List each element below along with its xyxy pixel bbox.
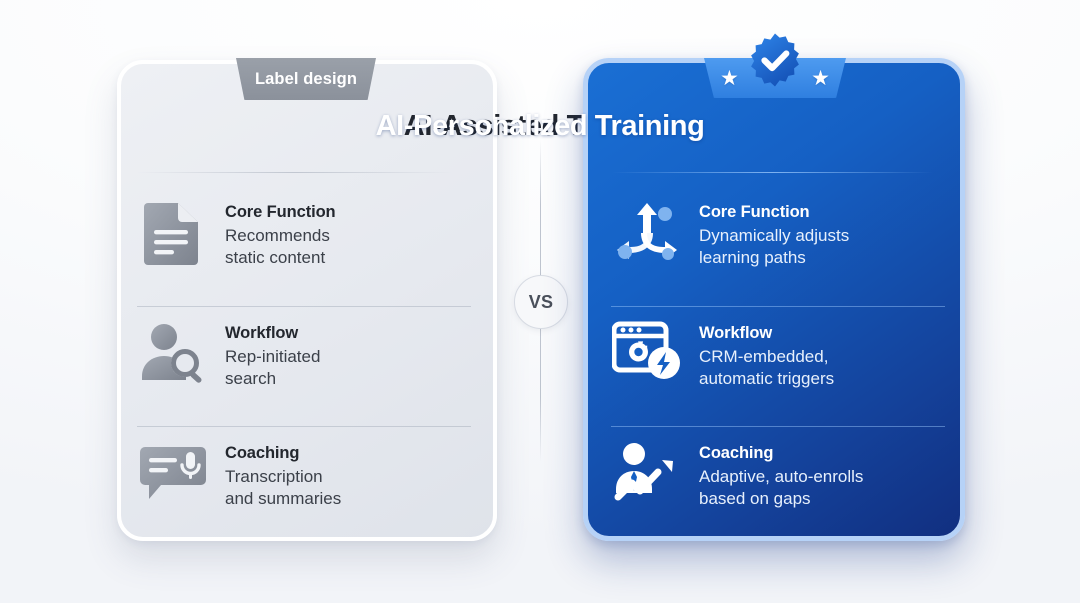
- list-item-text: Core Function Recommendsstatic content: [225, 194, 336, 269]
- list-item-desc: CRM-embedded,automatic triggers: [699, 346, 834, 390]
- list-item-desc: Recommendsstatic content: [225, 225, 336, 269]
- list-item-text: Coaching Transcriptionand summaries: [225, 435, 341, 510]
- list-item-label: Workflow: [225, 324, 320, 343]
- list-item-text: Workflow CRM-embedded,automatic triggers: [699, 315, 834, 390]
- label-design-tab-text: Label design: [255, 70, 357, 89]
- star-right-icon: ★: [811, 68, 830, 89]
- list-item: Core Function Recommendsstatic content: [137, 186, 471, 306]
- branching-arrows-icon: [611, 194, 683, 270]
- list-item-label: Core Function: [225, 203, 336, 222]
- list-item-label: Core Function: [699, 203, 849, 222]
- list-item-desc: Transcriptionand summaries: [225, 466, 341, 510]
- speech-bubble-microphone-icon: [137, 435, 209, 511]
- list-item-desc: Dynamically adjustslearning paths: [699, 225, 849, 269]
- label-design-tab: Label design: [236, 58, 376, 100]
- right-feature-list: Core Function Dynamically adjustslearnin…: [611, 186, 945, 546]
- list-item-text: Core Function Dynamically adjustslearnin…: [699, 194, 849, 269]
- list-item-text: Workflow Rep-initiatedsearch: [225, 315, 320, 390]
- list-item-label: Coaching: [225, 444, 341, 463]
- left-feature-list: Core Function Recommendsstatic content W…: [137, 186, 471, 546]
- list-item: Workflow Rep-initiatedsearch: [137, 306, 471, 426]
- list-item-desc: Adaptive, auto-enrollsbased on gaps: [699, 466, 863, 510]
- list-item: Core Function Dynamically adjustslearnin…: [611, 186, 945, 306]
- list-item: Workflow CRM-embedded,automatic triggers: [611, 306, 945, 426]
- comparison-infographic: Label design AI-Assisted Training: [0, 0, 1080, 603]
- person-search-icon: [137, 315, 209, 391]
- right-card-title: AI-Personalized Training: [0, 110, 1080, 143]
- browser-gear-bolt-icon: [611, 315, 683, 391]
- list-item-label: Coaching: [699, 444, 863, 463]
- document-lines-icon: [137, 194, 209, 270]
- left-title-divider: [137, 172, 453, 173]
- right-title-divider: [611, 172, 933, 173]
- list-item-label: Workflow: [699, 324, 834, 343]
- list-item-text: Coaching Adaptive, auto-enrollsbased on …: [699, 435, 863, 510]
- list-item: Coaching Transcriptionand summaries: [137, 426, 471, 546]
- list-item-desc: Rep-initiatedsearch: [225, 346, 320, 390]
- vs-badge: VS: [514, 275, 568, 329]
- verified-check-seal-icon: [746, 31, 804, 89]
- person-growth-arrow-icon: [611, 435, 683, 511]
- list-item: Coaching Adaptive, auto-enrollsbased on …: [611, 426, 945, 546]
- vs-label: VS: [529, 292, 554, 313]
- star-left-icon: ★: [720, 68, 739, 89]
